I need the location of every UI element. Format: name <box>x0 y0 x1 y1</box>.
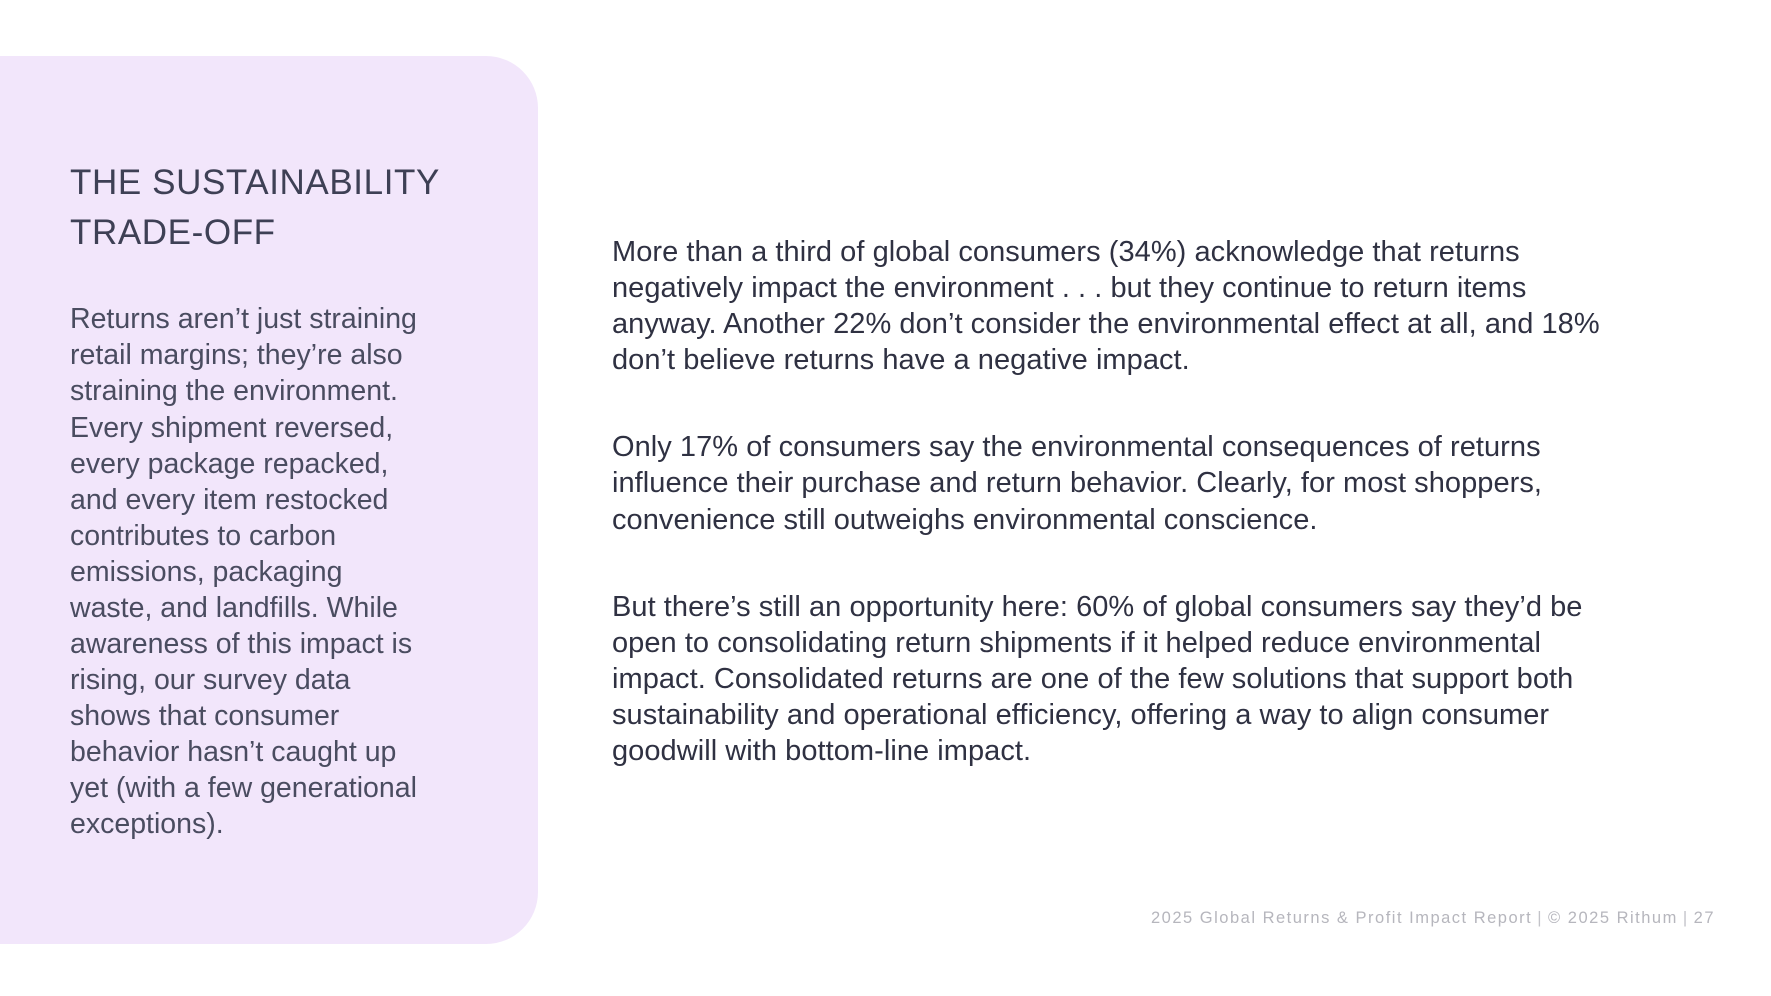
slide-canvas: THE SUSTAINABILITY TRADE-OFF Returns are… <box>0 0 1771 996</box>
body-paragraph-2: Only 17% of consumers say the environmen… <box>612 429 1618 537</box>
main-content: More than a third of global consumers (3… <box>612 234 1618 769</box>
footer-separator-2: | <box>1678 909 1694 927</box>
sidebar-panel: THE SUSTAINABILITY TRADE-OFF Returns are… <box>0 56 538 944</box>
footer-separator-1: | <box>1532 909 1548 927</box>
body-paragraph-3: But there’s still an opportunity here: 6… <box>612 589 1618 769</box>
footer-report-name: 2025 Global Returns & Profit Impact Repo… <box>1151 909 1532 927</box>
footer-copyright: © 2025 Rithum <box>1548 909 1678 927</box>
sidebar-summary-text: Returns aren’t just straining retail mar… <box>70 257 422 842</box>
page-title: THE SUSTAINABILITY TRADE-OFF <box>70 112 478 257</box>
footer-page-number: 27 <box>1694 909 1715 927</box>
footer: 2025 Global Returns & Profit Impact Repo… <box>1151 909 1715 928</box>
body-paragraph-1: More than a third of global consumers (3… <box>612 234 1618 378</box>
